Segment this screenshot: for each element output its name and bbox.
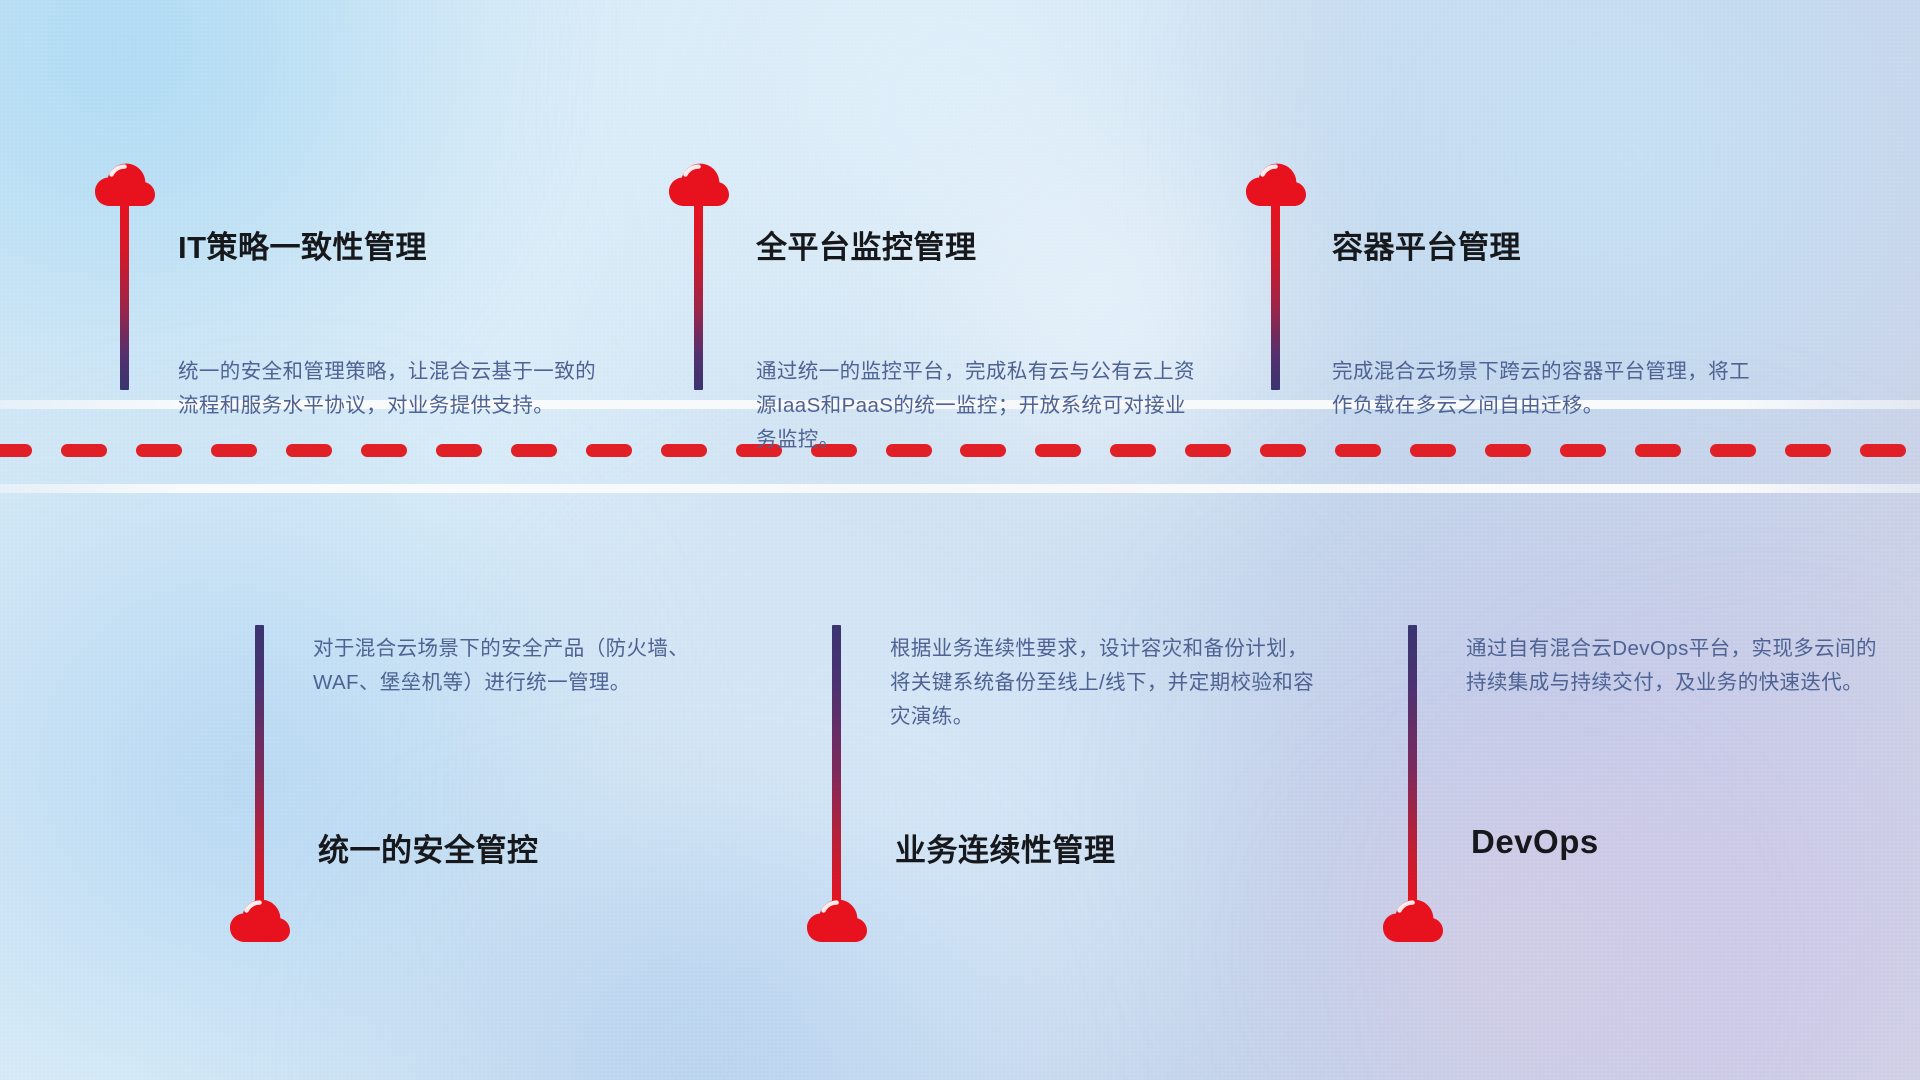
timeline-bar — [1408, 625, 1417, 905]
road-dash-segment — [61, 444, 107, 457]
road-dash-segment — [1710, 444, 1756, 457]
road-dash-segment — [286, 444, 332, 457]
bottom-item-body: 根据业务连续性要求，设计容灾和备份计划，将关键系统备份至线上/线下，并定期校验和… — [890, 632, 1315, 734]
road-dash-segment — [1485, 444, 1531, 457]
timeline-bar — [255, 625, 264, 905]
top-item-body: 通过统一的监控平台，完成私有云与公有云上资源IaaS和PaaS的统一监控；开放系… — [756, 355, 1196, 457]
cloud-icon — [1382, 898, 1444, 944]
bottom-item-body: 对于混合云场景下的安全产品（防火墙、WAF、堡垒机等）进行统一管理。 — [313, 632, 733, 700]
timeline-bar — [120, 200, 129, 390]
road-dash-segment — [361, 444, 407, 457]
timeline-bar — [832, 625, 841, 905]
top-item-body: 完成混合云场景下跨云的容器平台管理，将工作负载在多云之间自由迁移。 — [1332, 355, 1757, 423]
road-dash-segment — [1410, 444, 1456, 457]
road-dash-segment — [1560, 444, 1606, 457]
bottom-item-title: 业务连续性管理 — [895, 825, 1116, 870]
road-dash-segment — [436, 444, 482, 457]
road-edge-line-bottom — [0, 484, 1920, 493]
road-dash-segment — [586, 444, 632, 457]
top-item-title: IT策略一致性管理 — [178, 222, 427, 267]
road-dash-segment — [136, 444, 182, 457]
road-dash-segment — [511, 444, 557, 457]
road-dash-segment — [661, 444, 707, 457]
road-dash-segment — [1335, 444, 1381, 457]
timeline-bar — [694, 200, 703, 390]
road-dash-segment — [211, 444, 257, 457]
cloud-icon — [229, 898, 291, 944]
timeline-bar — [1271, 200, 1280, 390]
cloud-icon — [806, 898, 868, 944]
road-dash-segment — [1635, 444, 1681, 457]
road-dash-segment — [1260, 444, 1306, 457]
road-dash-segment — [0, 444, 32, 457]
bottom-item-body: 通过自有混合云DevOps平台，实现多云间的持续集成与持续交付，及业务的快速迭代… — [1466, 632, 1886, 700]
bottom-item-title: DevOps — [1471, 823, 1599, 861]
top-item-body: 统一的安全和管理策略，让混合云基于一致的流程和服务水平协议，对业务提供支持。 — [178, 355, 608, 423]
infographic-canvas: IT策略一致性管理 统一的安全和管理策略，让混合云基于一致的流程和服务水平协议，… — [0, 0, 1920, 1080]
bottom-item-title: 统一的安全管控 — [318, 825, 539, 870]
road-dash-segment — [1860, 444, 1906, 457]
road-dash-segment — [1785, 444, 1831, 457]
top-item-title: 全平台监控管理 — [756, 222, 977, 267]
top-item-title: 容器平台管理 — [1332, 222, 1521, 267]
